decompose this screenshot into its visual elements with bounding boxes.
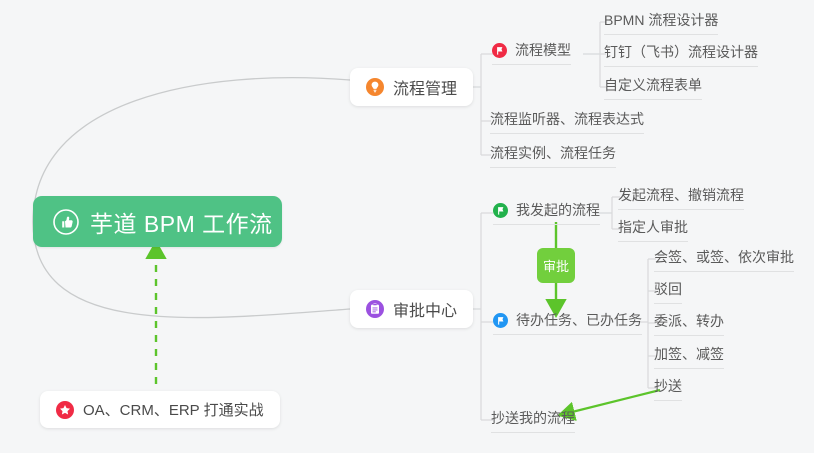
leaf-node-reject[interactable]: 驳回 [654,279,682,304]
approval-tag[interactable]: 审批 [537,248,575,283]
leaf-label-my-initiated: 我发起的流程 [516,200,600,220]
flag-icon [493,203,508,218]
clipboard-icon [366,300,384,318]
leaf-label-custom-form: 自定义流程表单 [604,75,702,95]
leaf-node-start-cancel-process[interactable]: 发起流程、撤销流程 [618,185,744,210]
leaf-node-my-initiated[interactable]: 我发起的流程 [493,200,600,225]
leaf-label-countersign: 会签、或签、依次审批 [654,247,794,267]
leaf-label-delegate-transfer: 委派、转办 [654,311,724,331]
leaf-label-process-listener: 流程监听器、流程表达式 [490,109,644,129]
leaf-label-process-instance: 流程实例、流程任务 [490,143,616,163]
leaf-label-cc: 抄送 [654,376,682,396]
flag-icon [493,313,508,328]
leaf-label-reject: 驳回 [654,279,682,299]
root-node[interactable]: 芋道 BPM 工作流 [33,196,282,247]
leaf-node-bpmn-designer[interactable]: BPMN 流程设计器 [604,10,718,35]
leaf-label-cc-my-process: 抄送我的流程 [491,408,575,428]
thumbs-up-icon [53,209,79,235]
root-label: 芋道 BPM 工作流 [90,205,273,239]
lightbulb-icon [366,78,384,96]
leaf-label-todo-done-tasks: 待办任务、已办任务 [516,310,642,330]
leaf-node-countersign[interactable]: 会签、或签、依次审批 [654,247,794,272]
leaf-node-delegate-transfer[interactable]: 委派、转办 [654,311,724,336]
leaf-node-process-instance[interactable]: 流程实例、流程任务 [490,143,616,168]
bottom-note-label: OA、CRM、ERP 打通实战 [83,399,264,420]
flow-arrow-cc-to-ccmine [568,390,660,413]
mindmap-canvas: 芋道 BPM 工作流 流程管理 流程模型 BPMN 流程设计器 钉钉（飞书）流程… [0,0,814,453]
leaf-node-process-model[interactable]: 流程模型 [492,40,571,65]
branch-label-approval-center: 审批中心 [393,297,457,321]
leaf-label-start-cancel-process: 发起流程、撤销流程 [618,185,744,205]
leaf-label-dingtalk-designer: 钉钉（飞书）流程设计器 [604,42,758,62]
leaf-node-cc[interactable]: 抄送 [654,376,682,401]
leaf-node-process-listener[interactable]: 流程监听器、流程表达式 [490,109,644,134]
leaf-node-add-remove-sign[interactable]: 加签、减签 [654,344,724,369]
flag-icon [492,43,507,58]
leaf-node-assigned-approval[interactable]: 指定人审批 [618,217,688,242]
leaf-label-bpmn-designer: BPMN 流程设计器 [604,10,718,30]
leaf-label-add-remove-sign: 加签、减签 [654,344,724,364]
leaf-node-custom-form[interactable]: 自定义流程表单 [604,75,702,100]
branch-node-process-management[interactable]: 流程管理 [350,68,473,106]
leaf-node-dingtalk-designer[interactable]: 钉钉（飞书）流程设计器 [604,42,758,67]
star-icon [56,401,74,419]
branch-label-process-management: 流程管理 [393,75,457,99]
approval-tag-label: 审批 [543,256,569,275]
leaf-node-todo-done-tasks[interactable]: 待办任务、已办任务 [493,310,642,335]
branch-node-approval-center[interactable]: 审批中心 [350,290,473,328]
leaf-label-process-model: 流程模型 [515,40,571,60]
bottom-note-node[interactable]: OA、CRM、ERP 打通实战 [40,391,280,428]
leaf-label-assigned-approval: 指定人审批 [618,217,688,237]
leaf-node-cc-my-process[interactable]: 抄送我的流程 [491,408,575,433]
